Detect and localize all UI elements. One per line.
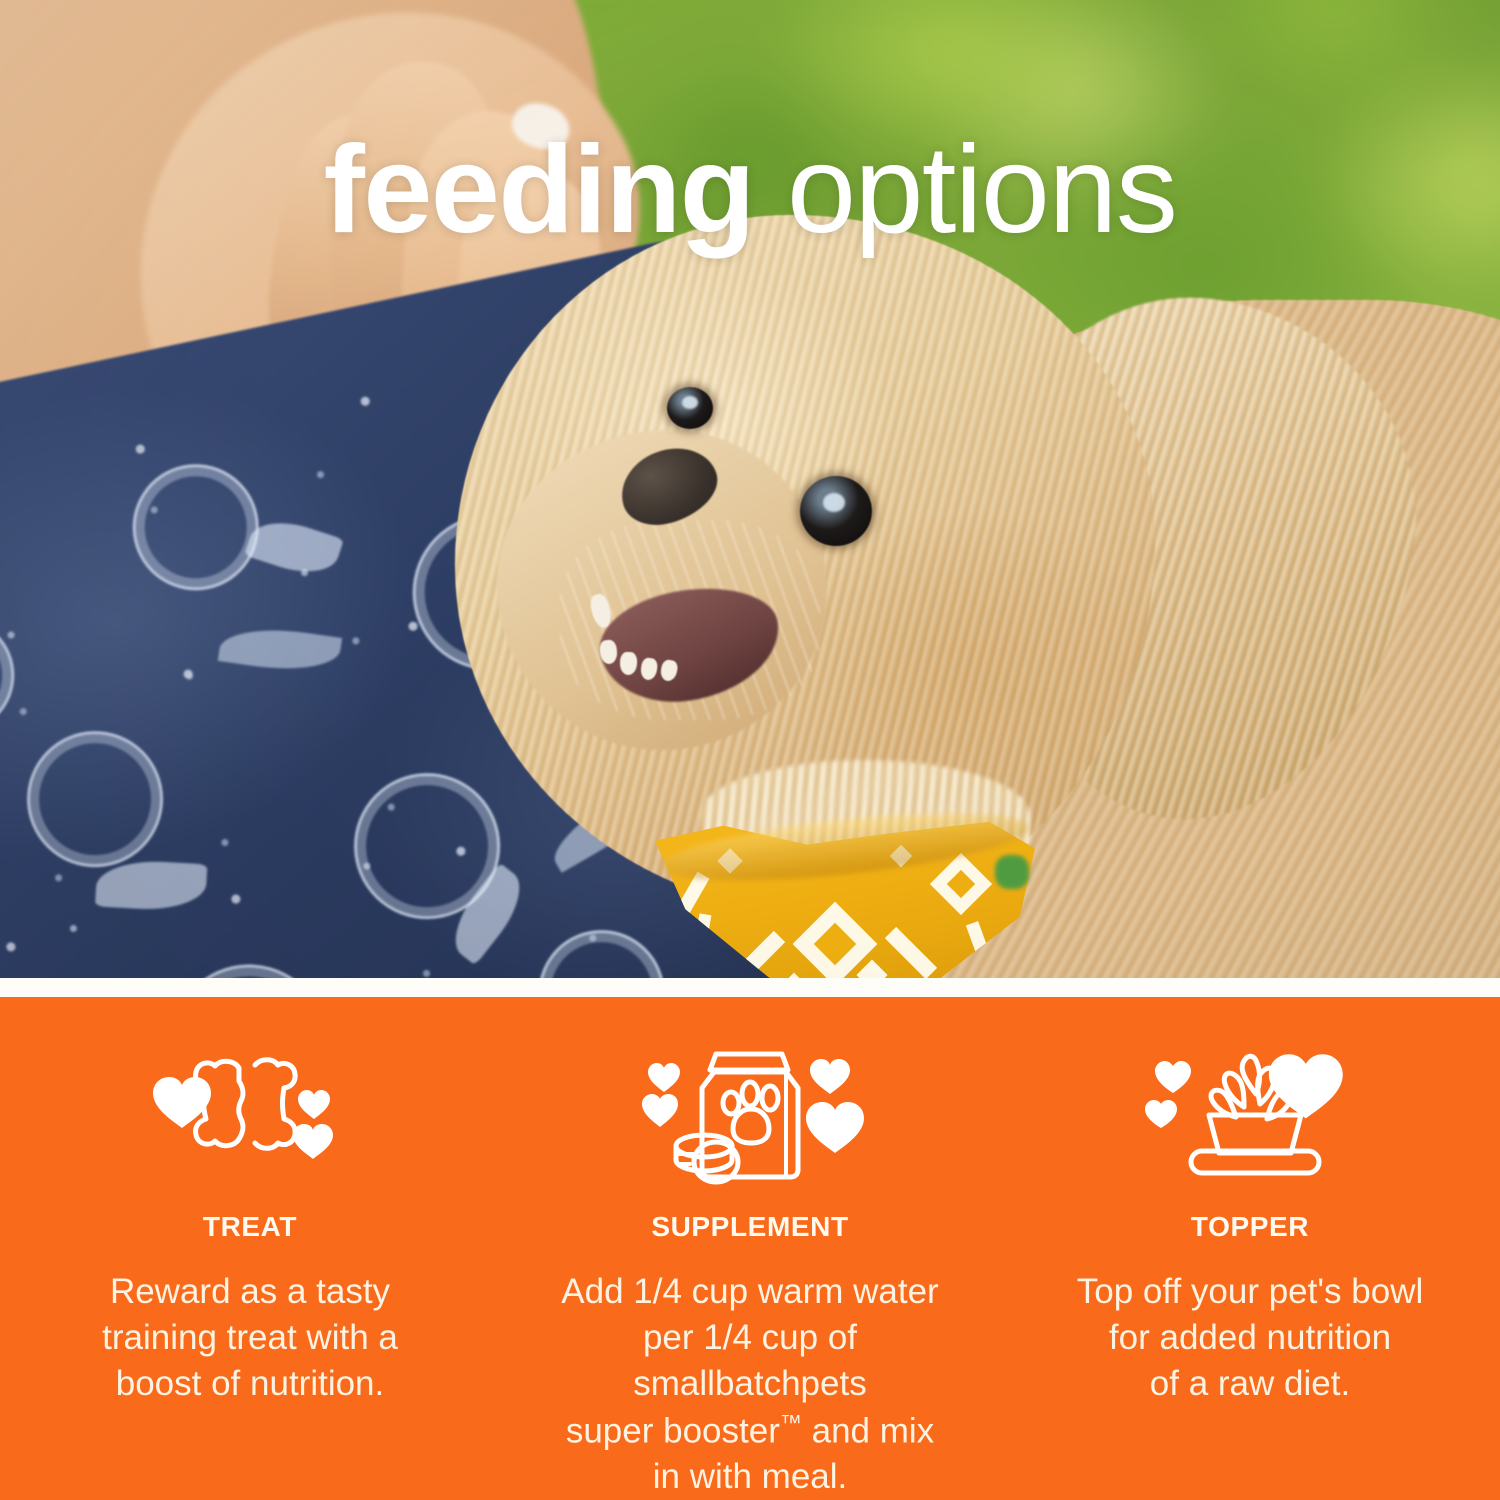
dog-eye-glint <box>682 396 698 409</box>
food-bowl-topper-icon <box>1135 1047 1365 1187</box>
section-divider <box>0 978 1500 997</box>
feeding-options-infographic: feeding options <box>0 0 1500 1500</box>
page-title-light: options <box>754 121 1176 259</box>
green-collar-tag <box>995 855 1029 889</box>
option-column-treat: TREAT Reward as a tasty training treat w… <box>0 1047 500 1500</box>
dog-eye-glint <box>823 493 845 512</box>
option-body-supplement: Add 1/4 cup warm water per 1/4 cup of sm… <box>534 1269 966 1500</box>
page-title: feeding options <box>0 128 1500 252</box>
option-body-treat: Reward as a tasty training treat with a … <box>102 1269 398 1408</box>
feeding-options-panel: TREAT Reward as a tasty training treat w… <box>0 997 1500 1500</box>
supplement-bag-icon <box>630 1047 870 1187</box>
options-columns: TREAT Reward as a tasty training treat w… <box>0 997 1500 1500</box>
option-title-treat: TREAT <box>203 1211 297 1243</box>
option-body-topper: Top off your pet's bowl for added nutrit… <box>1077 1269 1424 1408</box>
option-column-supplement: SUPPLEMENT Add 1/4 cup warm water per 1/… <box>500 1047 1000 1500</box>
dog-bone-treat-icon <box>135 1047 365 1187</box>
option-title-supplement: SUPPLEMENT <box>651 1211 848 1243</box>
page-title-bold: feeding <box>324 121 754 259</box>
hero-photo: feeding options <box>0 0 1500 978</box>
option-column-topper: TOPPER Top off your pet's bowl for added… <box>1000 1047 1500 1500</box>
option-title-topper: TOPPER <box>1191 1211 1309 1243</box>
trademark-symbol: ™ <box>780 1410 802 1435</box>
